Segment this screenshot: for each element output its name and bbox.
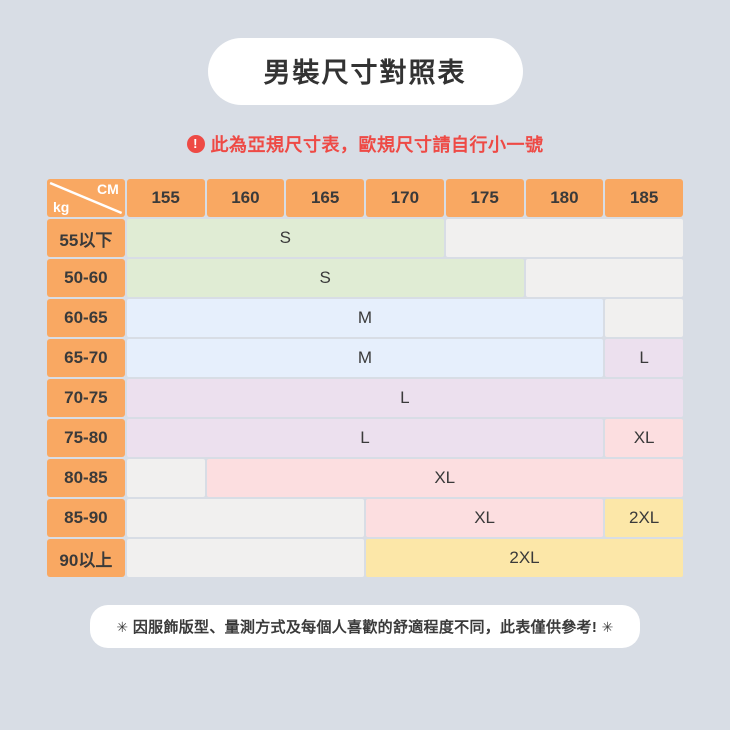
column-header-175: 175 — [446, 179, 524, 217]
row-header-4: 70-75 — [47, 379, 125, 417]
size-cell: S — [127, 259, 524, 297]
row-header-2: 60-65 — [47, 299, 125, 337]
row-header-7: 85-90 — [47, 499, 125, 537]
column-header-160: 160 — [207, 179, 285, 217]
size-cell: XL — [207, 459, 684, 497]
size-table-container: CM kg 155 160 165 170 175 180 185 55以下 S — [45, 177, 685, 579]
row-header-0: 55以下 — [47, 219, 125, 257]
row-header-5: 75-80 — [47, 419, 125, 457]
column-header-170: 170 — [366, 179, 444, 217]
table-row: 65-70 M L — [47, 339, 683, 377]
table-row: 80-85 XL — [47, 459, 683, 497]
size-cell: XL — [366, 499, 603, 537]
table-header-row: CM kg 155 160 165 170 175 180 185 — [47, 179, 683, 217]
size-cell: XL — [605, 419, 683, 457]
empty-cell — [446, 219, 683, 257]
empty-cell — [127, 459, 205, 497]
row-header-6: 80-85 — [47, 459, 125, 497]
table-row: 90以上 2XL — [47, 539, 683, 577]
size-cell: L — [127, 419, 604, 457]
column-header-165: 165 — [286, 179, 364, 217]
empty-cell — [127, 499, 364, 537]
exclamation-circle-icon: ! — [187, 135, 205, 153]
size-chart-page: 男裝尺寸對照表 ! 此為亞規尺寸表，歐規尺寸請自行小一號 CM kg — [0, 0, 730, 730]
size-cell: L — [605, 339, 683, 377]
warning-text: 此為亞規尺寸表，歐規尺寸請自行小一號 — [211, 131, 544, 157]
footer-note: ✳ 因服飾版型、量測方式及每個人喜歡的舒適程度不同，此表僅供參考! ✳ — [90, 605, 639, 648]
size-cell: 2XL — [366, 539, 683, 577]
size-cell: S — [127, 219, 444, 257]
size-table: CM kg 155 160 165 170 175 180 185 55以下 S — [45, 177, 685, 579]
empty-cell — [526, 259, 684, 297]
footer-note-text: 因服飾版型、量測方式及每個人喜歡的舒適程度不同，此表僅供參考! — [133, 619, 597, 636]
table-row: 60-65 M — [47, 299, 683, 337]
asterisk-left-icon: ✳ — [116, 619, 128, 635]
table-row: 55以下 S — [47, 219, 683, 257]
empty-cell — [605, 299, 683, 337]
size-cell: 2XL — [605, 499, 683, 537]
size-cell: L — [127, 379, 683, 417]
asterisk-right-icon: ✳ — [602, 619, 614, 635]
size-cell: M — [127, 339, 604, 377]
size-cell: M — [127, 299, 604, 337]
column-header-155: 155 — [127, 179, 205, 217]
empty-cell — [127, 539, 364, 577]
row-header-8: 90以上 — [47, 539, 125, 577]
table-row: 85-90 XL 2XL — [47, 499, 683, 537]
axis-corner-cell: CM kg — [47, 179, 125, 217]
table-row: 75-80 L XL — [47, 419, 683, 457]
axis-label-cm: CM — [97, 182, 119, 196]
page-title: 男裝尺寸對照表 — [208, 38, 523, 105]
footer-container: ✳ 因服飾版型、量測方式及每個人喜歡的舒適程度不同，此表僅供參考! ✳ — [0, 605, 730, 648]
warning-banner: ! 此為亞規尺寸表，歐規尺寸請自行小一號 — [0, 131, 730, 157]
column-header-180: 180 — [526, 179, 604, 217]
table-row: 70-75 L — [47, 379, 683, 417]
axis-label-kg: kg — [53, 200, 69, 214]
row-header-1: 50-60 — [47, 259, 125, 297]
column-header-185: 185 — [605, 179, 683, 217]
size-table-body: CM kg 155 160 165 170 175 180 185 55以下 S — [47, 179, 683, 577]
table-row: 50-60 S — [47, 259, 683, 297]
row-header-3: 65-70 — [47, 339, 125, 377]
title-container: 男裝尺寸對照表 — [0, 0, 730, 105]
